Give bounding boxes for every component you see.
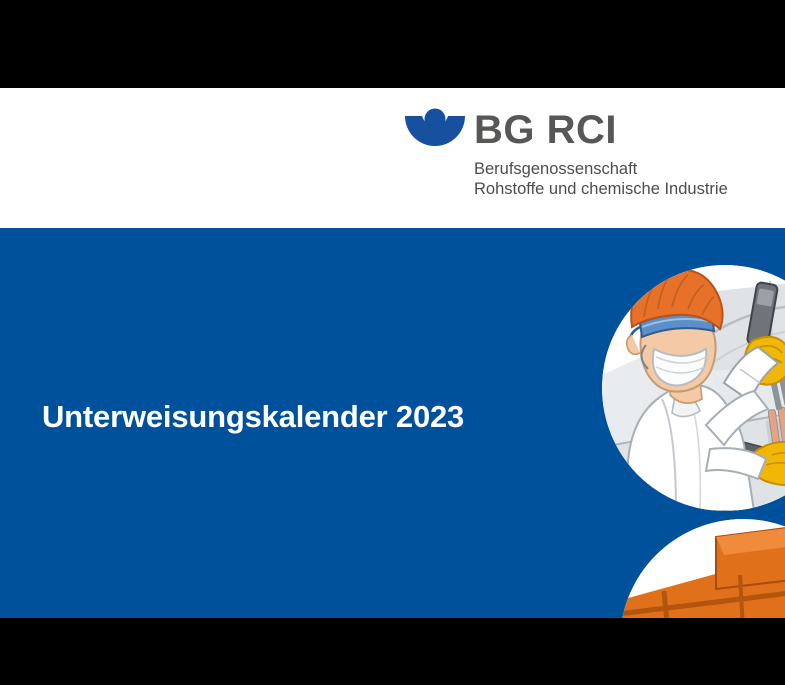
photo-lab-technician-pipetting <box>602 265 785 511</box>
bg-rci-wordmark: BG RCI <box>474 110 617 150</box>
photo-orange-industrial-machine-with-worker <box>620 519 785 618</box>
logo-subtitle-line-1: Berufsgenossenschaft <box>474 160 764 180</box>
letterbox-bar-bottom <box>0 618 785 685</box>
bg-rci-logo: BG RCI Berufsgenossenschaft Rohstoffe un… <box>404 104 764 214</box>
bg-rci-bowl-mark-icon <box>404 108 466 152</box>
slide-title: Unterweisungskalender 2023 <box>42 399 464 435</box>
header-band: BG RCI Berufsgenossenschaft Rohstoffe un… <box>0 88 785 228</box>
presentation-slide: Unterweisungskalender 2023 BG RCI Berufs… <box>0 0 785 685</box>
logo-subtitle-line-2: Rohstoffe und chemische Industrie <box>474 180 764 200</box>
letterbox-bar-top <box>0 0 785 88</box>
slide-body-blue-band: Unterweisungskalender 2023 <box>0 228 785 618</box>
